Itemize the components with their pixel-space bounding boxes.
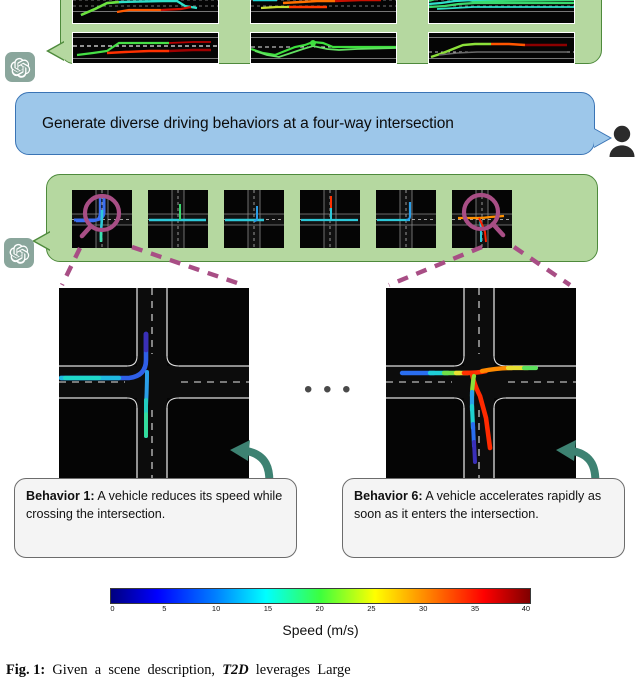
speed-colorbar-gradient	[110, 588, 531, 604]
cbar-tick-0: 0	[110, 604, 114, 613]
figure-caption: Fig. 1: Given a scene description, T2D l…	[0, 662, 640, 679]
figure-caption-method: T2D	[222, 662, 248, 678]
cbar-tick-30: 30	[419, 604, 427, 613]
trajectory-panel-4	[72, 32, 219, 64]
scene-behavior-1[interactable]	[59, 288, 249, 478]
openai-logo-icon	[10, 57, 31, 78]
user-bubble: Generate diverse driving behaviors at a …	[15, 92, 595, 155]
trajectory-panel-2	[250, 0, 397, 24]
speed-colorbar-label: Speed (m/s)	[110, 622, 531, 638]
trajectory-plot-1	[73, 0, 218, 23]
cbar-tick-35: 35	[471, 604, 479, 613]
trajectory-plot-4	[73, 33, 218, 63]
figure-caption-tail: leverages Large	[249, 662, 351, 678]
figure-caption-prefix: Fig. 1:	[6, 662, 45, 678]
figure-caption-body: Given a scene description,	[45, 662, 222, 678]
behavior-caption-right: Behavior 6: A vehicle accelerates rapidl…	[342, 478, 625, 558]
cbar-tick-15: 15	[264, 604, 272, 613]
behavior-caption-left: Behavior 1: A vehicle reduces its speed …	[14, 478, 297, 558]
trajectory-panel-6	[428, 32, 575, 64]
trajectory-plot-2	[251, 0, 396, 23]
trajectory-panel-3	[428, 0, 575, 24]
cbar-tick-5: 5	[162, 604, 166, 613]
behavior-caption-right-label: Behavior 6	[354, 489, 418, 503]
ellipsis-between-scenes: • • •	[304, 378, 353, 402]
speed-colorbar: 0 5 10 15 20 25 30 35 40 Speed (m/s)	[110, 588, 531, 616]
trajectory-plot-6	[429, 33, 574, 63]
assistant-avatar-top	[5, 52, 35, 82]
assistant-bubble-top-tail	[49, 42, 65, 60]
trajectory-plot-3	[429, 0, 574, 23]
trajectory-panel-5	[250, 32, 397, 64]
behavior-caption-left-label: Behavior 1	[26, 489, 90, 503]
cbar-tick-40: 40	[522, 604, 530, 613]
user-message-text: Generate diverse driving behaviors at a …	[42, 115, 454, 133]
trajectory-panel-1	[72, 0, 219, 24]
trajectory-plot-5	[251, 33, 396, 63]
user-avatar	[607, 124, 637, 158]
speed-colorbar-ticks: 0 5 10 15 20 25 30 35 40	[110, 604, 531, 616]
scene-plot-behavior-1	[59, 288, 249, 478]
cbar-tick-25: 25	[367, 604, 375, 613]
figure-root: Generate diverse driving behaviors at a …	[0, 0, 640, 680]
cbar-tick-20: 20	[315, 604, 323, 613]
cbar-tick-10: 10	[212, 604, 220, 613]
leader-lines	[0, 225, 640, 295]
